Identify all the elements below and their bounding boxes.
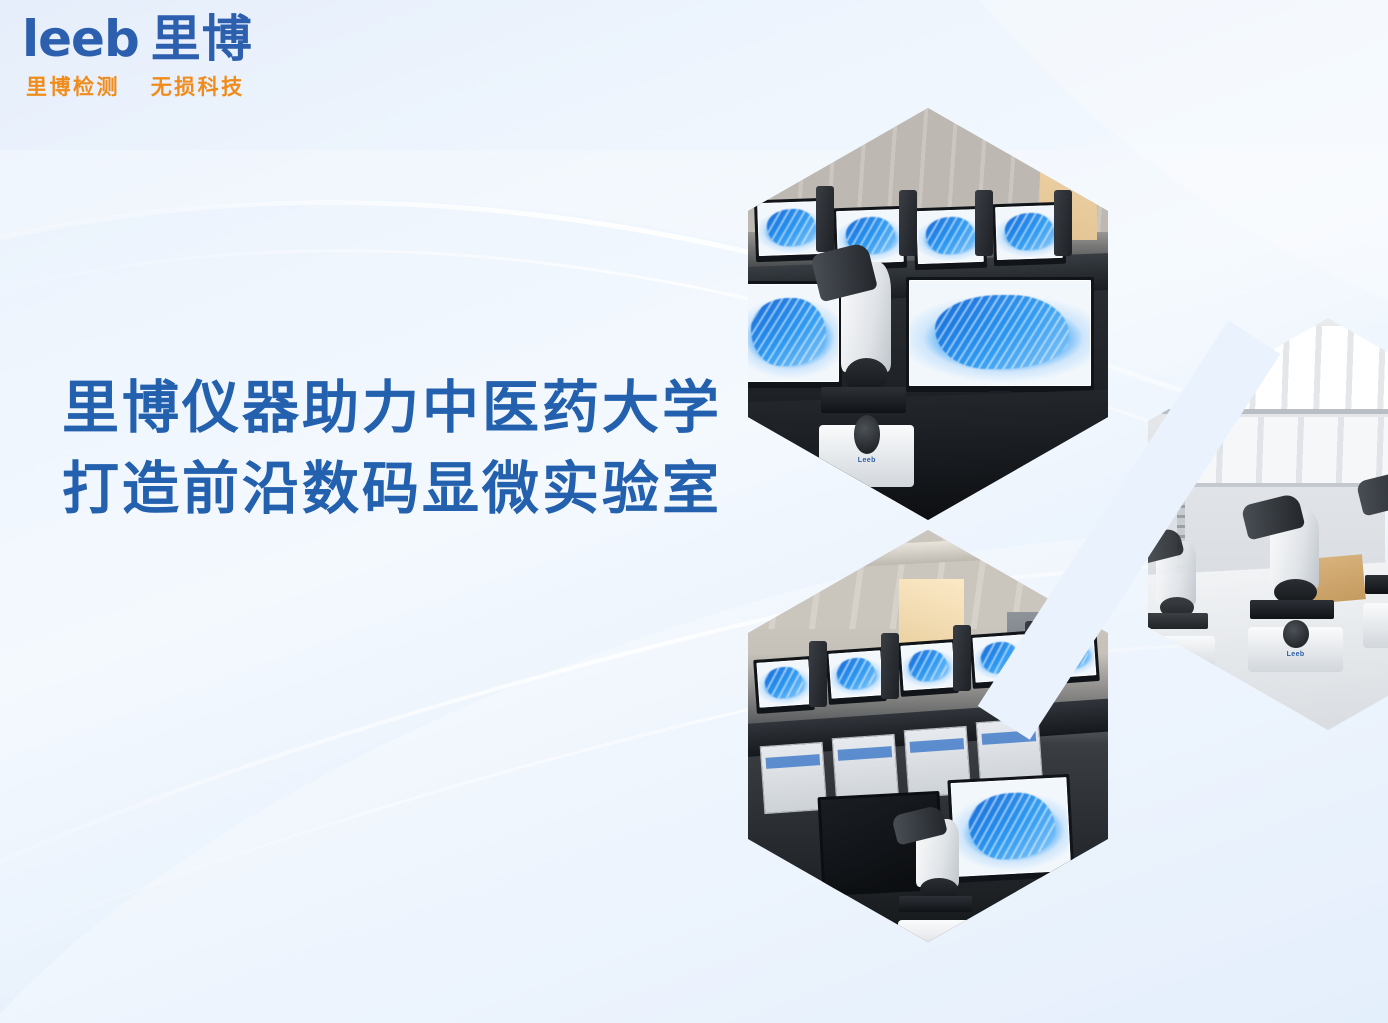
- microscope-silhouette: [809, 641, 827, 707]
- microscope-stage: [1365, 575, 1388, 594]
- monitor-screen: [916, 209, 984, 264]
- monitor-screen: [909, 280, 1090, 386]
- microscope-silhouette: [953, 625, 971, 691]
- promo-banner: leeb 里博 里博检测 无损科技 里博仪器助力中医药大学 打造前沿数码显微实验…: [0, 0, 1388, 1023]
- microscope-silhouette: [1025, 621, 1043, 687]
- microscope-silhouette: [881, 633, 899, 699]
- monitor-screen: [757, 659, 812, 707]
- monitor-screen: [995, 205, 1063, 260]
- front-bench: [748, 389, 1108, 520]
- microscope-silhouette: [899, 190, 917, 256]
- collage-photo-right[interactable]: Leeb Leeb: [1148, 318, 1388, 730]
- microscope-stage: [821, 387, 905, 413]
- microscope-focus-knob: [1283, 620, 1309, 648]
- monitor: [825, 648, 886, 705]
- cabinet-handle: [910, 737, 965, 753]
- monitor-screen: [973, 634, 1028, 682]
- microscope-base: Leeb: [1363, 603, 1388, 648]
- cabinet-handle: [982, 729, 1037, 745]
- cabinet-handle: [838, 746, 893, 762]
- cabinet-handle: [766, 754, 821, 770]
- monitor: [969, 631, 1030, 688]
- microscope-brand-mark: Leeb: [858, 457, 876, 464]
- collage-photo-bottom[interactable]: [748, 530, 1108, 942]
- photo-lab-overview: [748, 530, 1108, 942]
- microscope-base: [1148, 636, 1215, 672]
- microscope: [1148, 532, 1220, 672]
- microscope-focus-knob: [854, 415, 880, 453]
- microscope-stage: [899, 896, 972, 912]
- microscope-eyepiece: [1356, 468, 1388, 516]
- monitor-primary: [906, 277, 1093, 392]
- monitor-screen: [829, 651, 884, 699]
- monitor: [897, 639, 958, 696]
- monitor-screen: [1041, 630, 1096, 678]
- monitor: [753, 656, 814, 713]
- monitor-screen: [901, 642, 956, 690]
- collage-photo-top[interactable]: Leeb: [748, 108, 1108, 520]
- microscope-stage: [1148, 613, 1208, 628]
- microscope-hero: Leeb: [813, 248, 921, 487]
- microscope: Leeb: [1242, 499, 1350, 672]
- microscope-silhouette: [1054, 190, 1072, 256]
- microscope: Leeb: [1357, 475, 1388, 648]
- microscope-base: [898, 920, 980, 942]
- monitor: [1038, 627, 1099, 684]
- microscope-hero: [892, 810, 986, 942]
- photo-storage-area: Leeb Leeb: [1148, 318, 1388, 730]
- shelf-upper: [1162, 326, 1388, 413]
- microscope-stage: [1250, 600, 1334, 619]
- photo-collage: Leeb Leeb: [0, 0, 1388, 1023]
- microscope-silhouette: [975, 190, 993, 256]
- microscope-silhouette: [816, 186, 834, 252]
- microscope-brand-mark: Leeb: [1287, 651, 1305, 658]
- photo-lab-workstation: Leeb: [748, 108, 1108, 520]
